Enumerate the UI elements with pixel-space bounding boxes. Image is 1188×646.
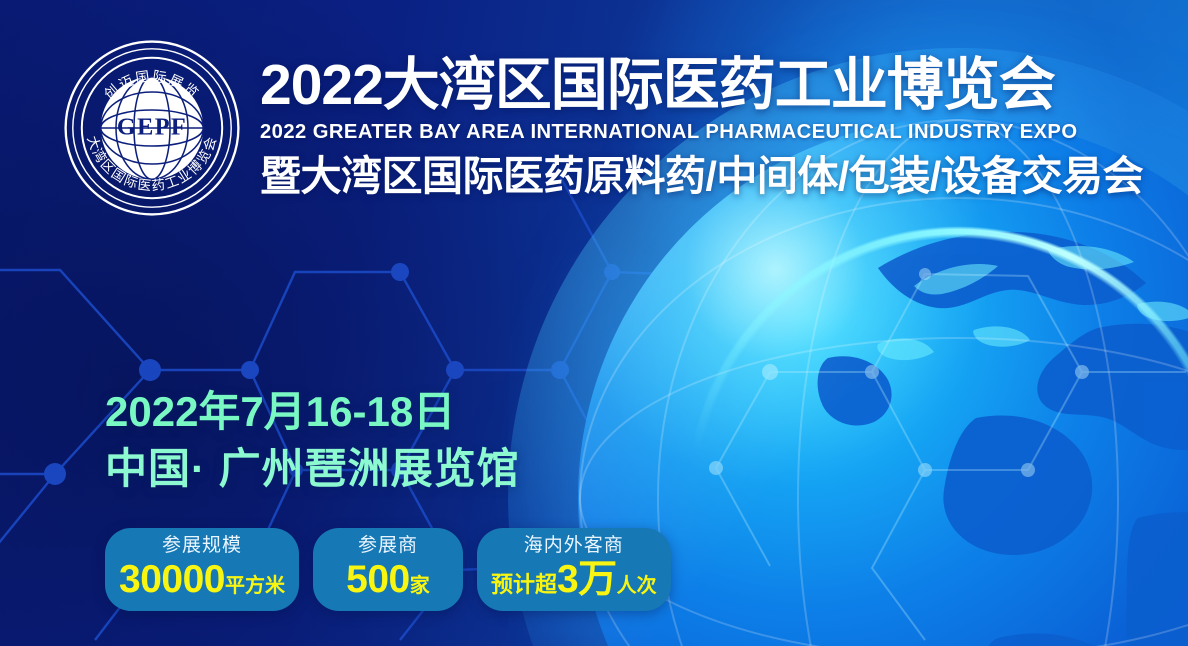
- stat-badge-visitors: 海内外客商 预计超3万人次: [477, 528, 671, 611]
- stat-badge-group: 参展规模 30000平方米 参展商 500家 海内外客商 预计超3万人次: [105, 528, 671, 611]
- title-main: 2022大湾区国际医药工业博览会: [260, 56, 1143, 115]
- gepf-emblem-logo: 创迈国际展览 大湾区国际医药工业博览会 GEPF: [62, 38, 242, 218]
- event-venue: 中国· 广州琶洲展览馆: [105, 445, 520, 492]
- stat-label: 海内外客商: [491, 534, 657, 558]
- stat-number: 3万: [557, 558, 617, 601]
- title-subtitle: 暨大湾区国际医药原料药/中间体/包装/设备交易会: [260, 155, 1143, 198]
- stat-badge-exhibitors: 参展商 500家: [313, 528, 463, 611]
- stat-number: 500: [346, 558, 410, 601]
- logo-center-text: GEPF: [117, 113, 187, 140]
- expo-banner: 创迈国际展览 大湾区国际医药工业博览会 GEPF 2022大湾区国际医药工业博览…: [0, 0, 1188, 646]
- stat-label: 参展商: [327, 534, 449, 558]
- title-english: 2022 GREATER BAY AREA INTERNATIONAL PHAR…: [260, 122, 1130, 143]
- stat-prefix: 预计超: [491, 572, 557, 597]
- stat-label: 参展规模: [119, 534, 285, 558]
- stat-value: 30000平方米: [119, 559, 285, 602]
- stat-value: 预计超3万人次: [491, 559, 657, 602]
- stat-unit: 家: [410, 575, 430, 597]
- stat-unit: 平方米: [225, 575, 285, 597]
- event-info: 2022年7月16-18日 中国· 广州琶洲展览馆: [105, 388, 520, 492]
- stat-unit: 人次: [617, 575, 657, 597]
- title-group: 2022大湾区国际医药工业博览会 2022 GREATER BAY AREA I…: [260, 38, 1143, 198]
- event-date: 2022年7月16-18日: [105, 388, 520, 435]
- banner-header: 创迈国际展览 大湾区国际医药工业博览会 GEPF 2022大湾区国际医药工业博览…: [62, 38, 1143, 218]
- stat-badge-scale: 参展规模 30000平方米: [105, 528, 299, 611]
- stat-value: 500家: [327, 559, 449, 602]
- stat-number: 30000: [119, 558, 225, 601]
